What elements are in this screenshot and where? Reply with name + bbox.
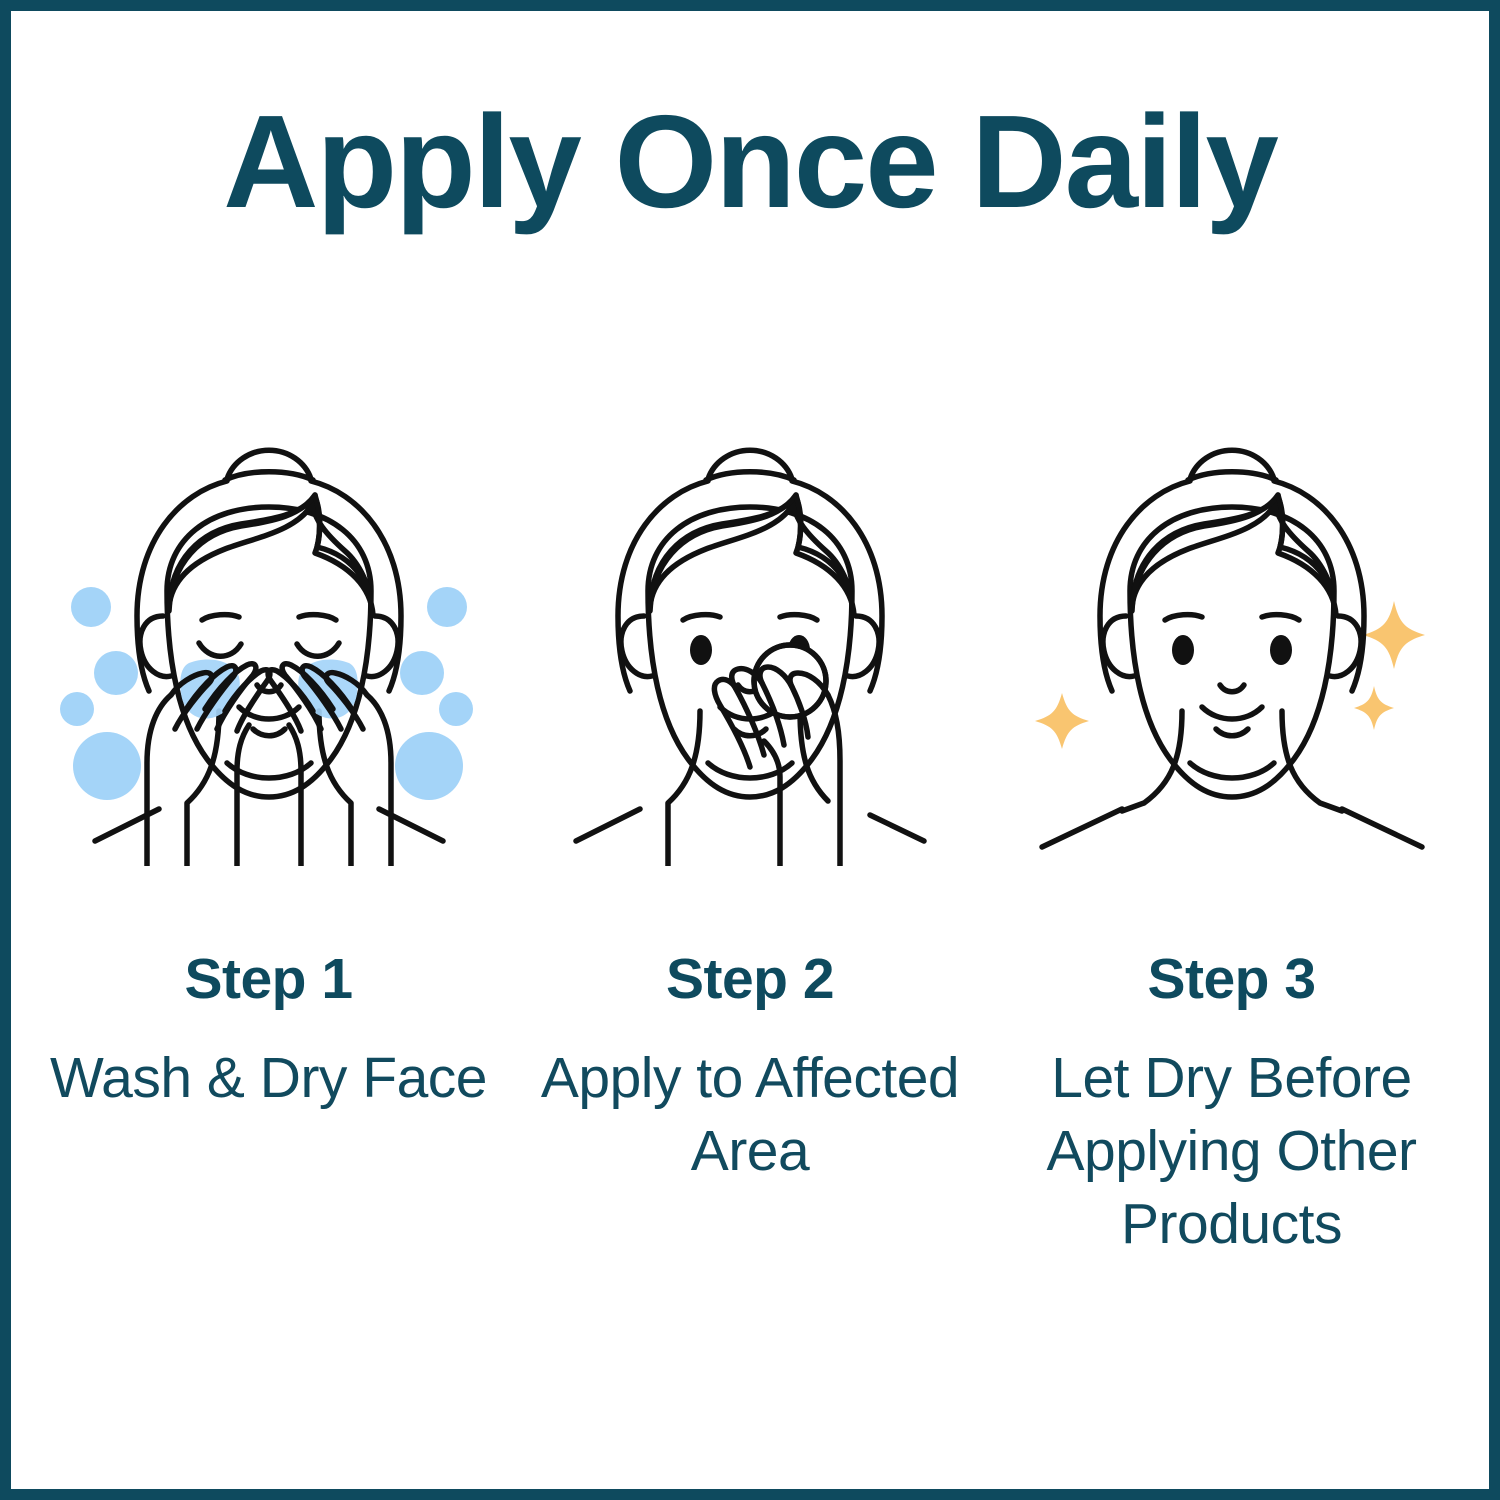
step-column-2: Step 2 Apply to Affected Area (523, 411, 978, 1188)
step-heading-3: Step 3 (1147, 951, 1315, 1008)
step-description-2: Apply to Affected Area (530, 1042, 970, 1188)
step-description-1: Wash & Dry Face (50, 1042, 487, 1115)
step-heading-1: Step 1 (184, 951, 352, 1008)
apply-product-icon (540, 411, 960, 866)
steps-row: Step 1 Wash & Dry Face (11, 411, 1489, 1261)
page-title: Apply Once Daily (11, 89, 1489, 234)
card-inner: Apply Once Daily (11, 11, 1489, 1489)
step-column-1: Step 1 Wash & Dry Face (41, 411, 496, 1115)
step-heading-2: Step 2 (666, 951, 834, 1008)
wash-face-icon (59, 411, 479, 866)
step-description-3: Let Dry Before Applying Other Products (1012, 1042, 1452, 1261)
step-column-3: Step 3 Let Dry Before Applying Other Pro… (1004, 411, 1459, 1261)
sparkling-face-icon (1022, 411, 1442, 866)
instruction-card: Apply Once Daily (0, 0, 1500, 1500)
